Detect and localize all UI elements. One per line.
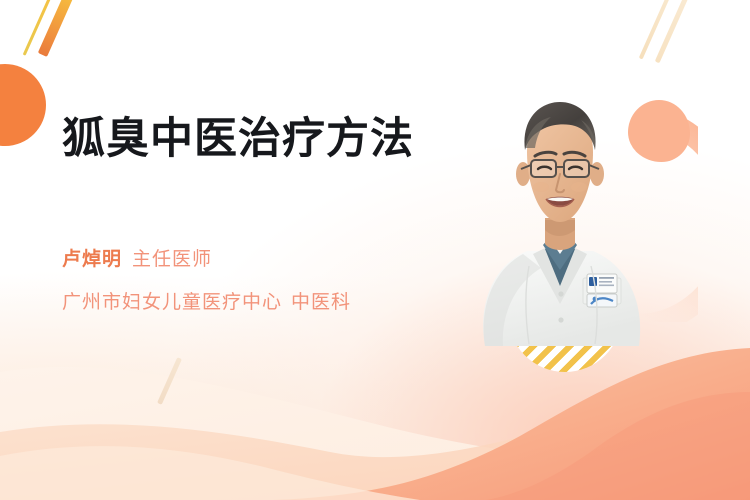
speaker-affiliation-line: 广州市妇女儿童医疗中心中医科 (62, 289, 482, 318)
speaker-name-line: 卢焯明主任医师 (62, 246, 482, 275)
speaker-credits: 卢焯明主任医师 广州市妇女儿童医疗中心中医科 (62, 246, 482, 317)
doctor-portrait (455, 88, 665, 346)
video-cover-card: 狐臭中医治疗方法 卢焯明主任医师 广州市妇女儿童医疗中心中医科 (0, 0, 750, 500)
speaker-rank: 主任医师 (132, 249, 212, 270)
title-block: 狐臭中医治疗方法 (62, 112, 462, 167)
page-title: 狐臭中医治疗方法 (62, 112, 462, 167)
speaker-hospital: 广州市妇女儿童医疗中心 (62, 292, 282, 313)
speaker-name: 卢焯明 (62, 249, 122, 270)
speaker-department: 中医科 (291, 292, 351, 313)
